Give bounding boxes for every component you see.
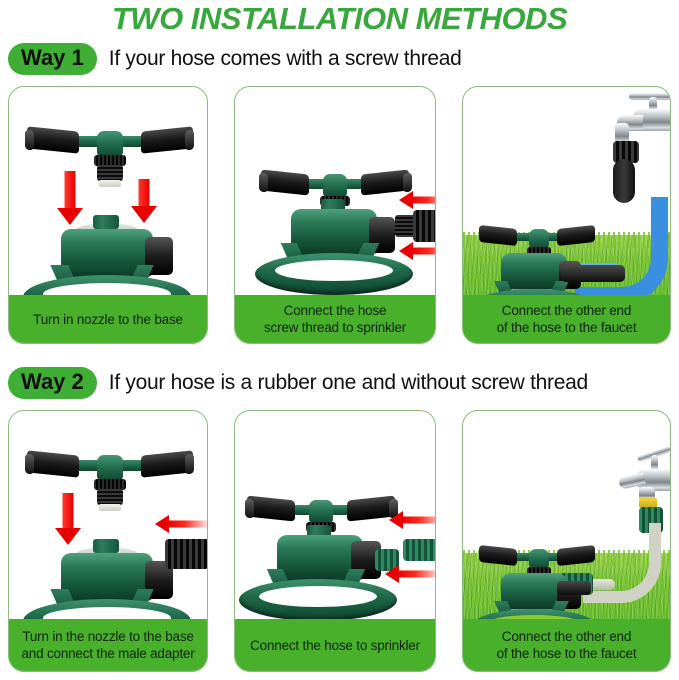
way-1-header: Way 1 If your hose comes with a screw th…	[0, 42, 462, 76]
hose-screw-connector	[395, 209, 435, 243]
installation-guide-poster: TWO INSTALLATION METHODS Way 1 If your h…	[0, 0, 679, 680]
caption-text: Connect the other end of the hose to the…	[497, 302, 637, 336]
step-caption-1-2: Connect the hose screw thread to sprinkl…	[235, 295, 435, 343]
way-1-badge: Way 1	[8, 43, 97, 75]
caption-text: Turn in nozzle to the base	[33, 311, 183, 328]
left-arrow-bottom	[385, 565, 435, 583]
caption-text: Connect the hose to sprinkler	[250, 637, 420, 654]
way-2-header: Way 2 If your hose is a rubber one and w…	[0, 366, 588, 400]
quick-connect-coupling	[403, 539, 435, 561]
step-panel-1-2: Connect the hose screw thread to sprinkl…	[234, 86, 436, 344]
way-2-badge: Way 2	[8, 367, 97, 399]
down-arrow-left	[57, 171, 83, 225]
sprinkler-base	[239, 529, 405, 621]
down-arrow-left	[55, 493, 81, 545]
step-caption-2-1: Turn in the nozzle to the base and conne…	[9, 619, 207, 671]
way-2-heading: If your hose is a rubber one and without…	[109, 371, 588, 395]
caption-text: Connect the other end of the hose to the…	[497, 628, 637, 662]
step-caption-1-1: Turn in nozzle to the base	[9, 295, 207, 343]
step-caption-2-2: Connect the hose to sprinkler	[235, 619, 435, 671]
sprinkler-arm-assembly	[23, 437, 195, 497]
left-arrow-adapter	[155, 515, 207, 533]
way-1-heading: If your hose comes with a screw thread	[109, 47, 462, 71]
caption-text: Connect the hose screw thread to sprinkl…	[264, 302, 406, 336]
step-panel-1-1: Turn in nozzle to the base	[8, 86, 208, 344]
step-panel-1-3: Connect the other end of the hose to the…	[462, 86, 671, 344]
male-adapter	[165, 539, 207, 569]
page-title: TWO INSTALLATION METHODS	[0, 1, 679, 37]
left-arrow-bottom	[399, 242, 435, 260]
left-arrow-top	[399, 191, 435, 209]
step-caption-2-3: Connect the other end of the hose to the…	[463, 619, 670, 671]
step-panel-2-3: Connect the other end of the hose to the…	[462, 410, 671, 672]
down-arrow-right	[131, 179, 157, 223]
sprinkler-arm-assembly	[23, 113, 195, 173]
sprinkler-inlet-connector	[557, 581, 591, 595]
hose-end-connector	[561, 265, 625, 282]
step-panel-2-1: Turn in the nozzle to the base and conne…	[8, 410, 208, 672]
step-caption-1-3: Connect the other end of the hose to the…	[463, 295, 670, 343]
left-arrow-top	[389, 511, 435, 529]
caption-text: Turn in the nozzle to the base and conne…	[21, 628, 194, 662]
step-panel-2-2: Connect the hose to sprinkler	[234, 410, 436, 672]
